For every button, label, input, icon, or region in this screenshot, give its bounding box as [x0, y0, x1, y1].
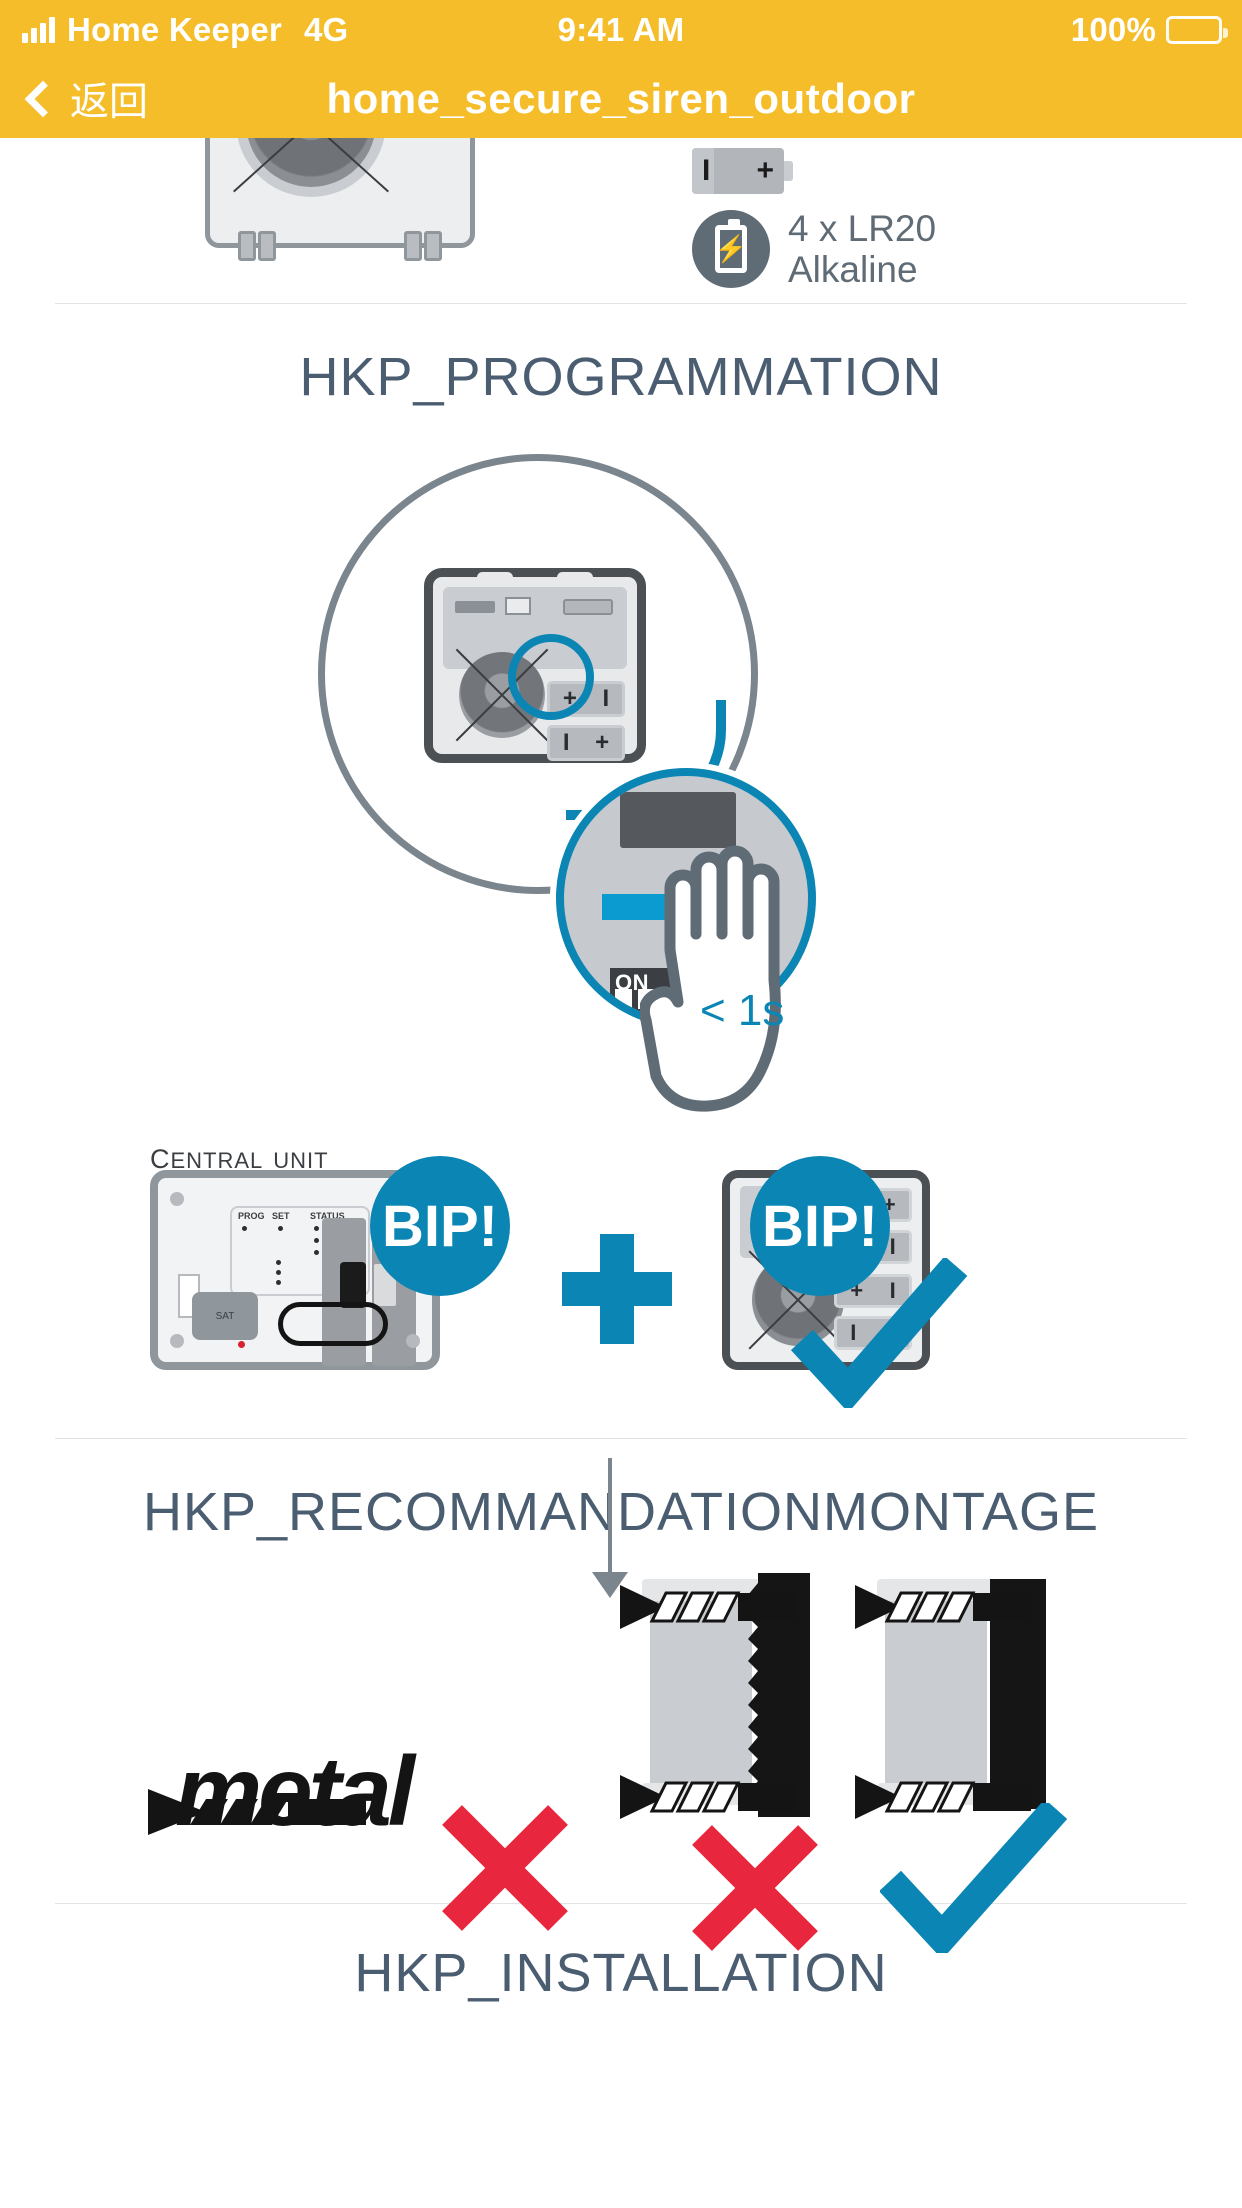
bip-badge-left-label: BIP!	[382, 1193, 498, 1260]
screw-icon	[148, 1785, 378, 1839]
bip-badge-left: BIP!	[370, 1156, 510, 1296]
check-mark-icon	[790, 1258, 970, 1408]
mounting-illustration: metal	[0, 1573, 1242, 1903]
screw-icon	[620, 1579, 800, 1635]
battery-minus-label: I	[702, 154, 710, 188]
programmation-illustration: + I I + ON < 1s 2 m	[0, 438, 1242, 1138]
blue-check-icon	[880, 1803, 1070, 1953]
flow-arrow-icon	[608, 1458, 612, 1586]
battery-full-icon	[1166, 16, 1222, 44]
siren-device-illustration	[205, 138, 475, 248]
panel-label-prog: PROG	[238, 1211, 265, 1221]
plus-sign-icon	[562, 1234, 672, 1344]
battery-percent-label: 100%	[1071, 11, 1156, 49]
red-indicator-icon	[238, 1341, 245, 1348]
speaker-cone-icon	[246, 138, 376, 187]
battery-spec-line-2: Alkaline	[788, 249, 936, 290]
back-button-label: 返回	[70, 71, 148, 127]
red-cross-icon	[690, 1823, 820, 1953]
back-button[interactable]: 返回	[30, 71, 148, 127]
battery-cell-illustration: I +	[692, 148, 784, 194]
clock-label: 9:41 AM	[0, 11, 1242, 49]
status-bar-right: 100%	[1071, 11, 1222, 49]
battery-charge-icon	[692, 210, 770, 288]
battery-spec-text: 4 x LR20 Alkaline	[788, 208, 936, 291]
battery-plus-label: +	[756, 154, 774, 188]
pairing-result-row: Central unit PROG SET STATUS SAT	[0, 1138, 1242, 1438]
hand-pointing-icon	[640, 830, 812, 1130]
battery-requirement-block: I + 4 x LR20 Alkaline	[0, 138, 1242, 303]
battery-spec: 4 x LR20 Alkaline	[692, 208, 936, 291]
panel-label-set: SET	[272, 1211, 290, 1221]
bip-badge-right-label: BIP!	[762, 1193, 878, 1260]
screw-icon	[620, 1769, 800, 1825]
status-bar: Home Keeper 4G 9:41 AM 100%	[0, 0, 1242, 60]
press-duration-label: < 1s	[700, 986, 784, 1036]
cell-minus-label: I	[890, 1234, 896, 1260]
screw-icon	[855, 1579, 1035, 1635]
sat-module-label: SAT	[192, 1292, 258, 1340]
red-cross-icon	[440, 1803, 570, 1933]
chevron-left-icon	[25, 81, 62, 118]
section-heading-programmation: HKP_PROGRAMMATION	[0, 304, 1242, 438]
section-heading-mounting: HKP_RECOMMANDATIONMONTAGE	[0, 1439, 1242, 1573]
page-title: home_secure_siren_outdoor	[0, 75, 1242, 123]
scroll-content[interactable]: I + 4 x LR20 Alkaline HKP_PROGRAMMATION …	[0, 138, 1242, 2208]
nav-bar: 返回 home_secure_siren_outdoor	[0, 60, 1242, 138]
battery-spec-line-1: 4 x LR20	[788, 208, 936, 249]
power-cable-icon	[278, 1302, 388, 1346]
